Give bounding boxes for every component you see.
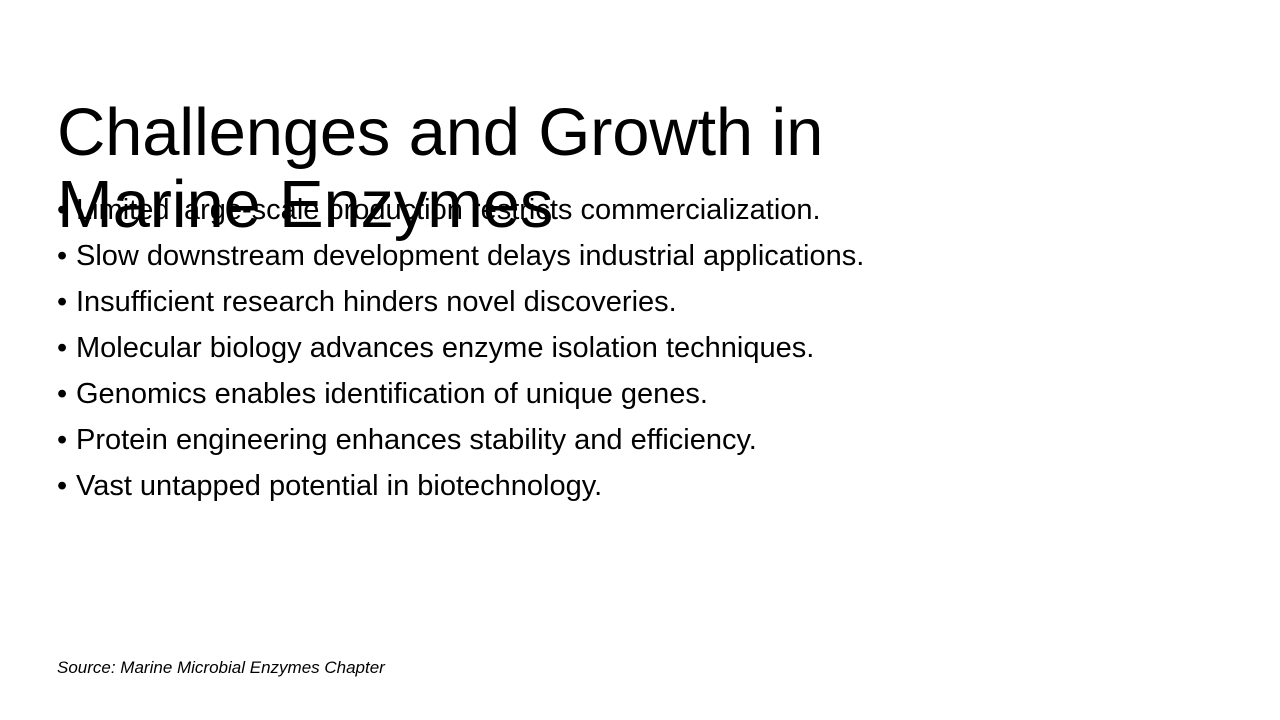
list-item-label: Molecular biology advances enzyme isolat… bbox=[76, 332, 814, 364]
bullet-point-icon: • bbox=[57, 417, 67, 463]
list-item: • Protein engineering enhances stability… bbox=[57, 417, 1177, 463]
list-item: • Slow downstream development delays ind… bbox=[57, 233, 1177, 279]
bullet-point-icon: • bbox=[57, 279, 67, 325]
list-item: • Limited large-scale production restric… bbox=[57, 187, 1177, 233]
list-item-label: Genomics enables identification of uniqu… bbox=[76, 378, 708, 410]
bullet-point-icon: • bbox=[57, 233, 67, 279]
list-item-label: Protein engineering enhances stability a… bbox=[76, 424, 757, 456]
bullet-point-icon: • bbox=[57, 187, 67, 233]
list-item-label: Limited large-scale production restricts… bbox=[76, 194, 821, 226]
bullet-point-icon: • bbox=[57, 325, 67, 371]
bullet-list: • Limited large-scale production restric… bbox=[57, 187, 1177, 509]
list-item-label: Insufficient research hinders novel disc… bbox=[76, 286, 677, 318]
list-item: • Molecular biology advances enzyme isol… bbox=[57, 325, 1177, 371]
list-item: • Vast untapped potential in biotechnolo… bbox=[57, 463, 1177, 509]
list-item-label: Slow downstream development delays indus… bbox=[76, 240, 864, 272]
source-citation: Source: Marine Microbial Enzymes Chapter bbox=[57, 657, 385, 679]
bullet-point-icon: • bbox=[57, 463, 67, 509]
bullet-point-icon: • bbox=[57, 371, 67, 417]
list-item-label: Vast untapped potential in biotechnology… bbox=[76, 470, 602, 502]
slide-canvas: Challenges and Growth in Marine Enzymes … bbox=[0, 0, 1280, 720]
list-item: • Genomics enables identification of uni… bbox=[57, 371, 1177, 417]
list-item: • Insufficient research hinders novel di… bbox=[57, 279, 1177, 325]
